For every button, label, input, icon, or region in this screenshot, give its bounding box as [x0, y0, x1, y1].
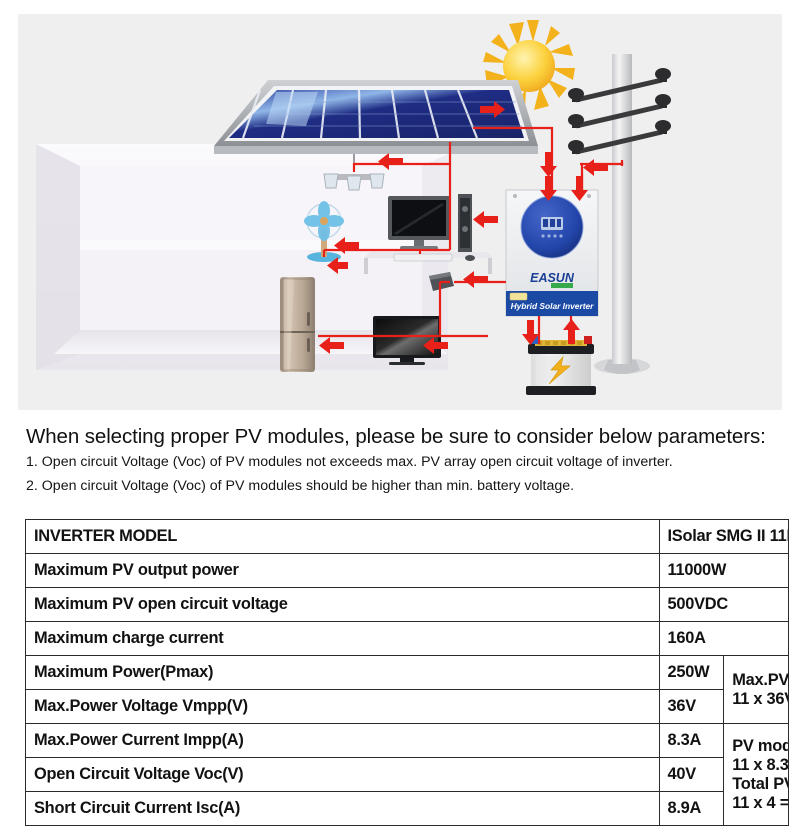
note-total-calc: 11 x 4 = 44	[732, 794, 788, 813]
table-row: Maximum PV open circuit voltage 500VDC	[26, 588, 789, 622]
table-row: Short Circuit Current Isc(A) 8.9A	[26, 792, 789, 826]
cell-value: 36V	[659, 690, 724, 724]
intro-text-block: When selecting proper PV modules, please…	[26, 424, 786, 498]
refrigerator	[280, 277, 315, 372]
cell-label: Open Circuit Voltage Voc(V)	[26, 758, 660, 792]
solar-system-illustration: EASUN Hybrid Solar Inverter	[18, 14, 782, 410]
page-title: When selecting proper PV modules, please…	[26, 424, 786, 450]
note-series-calc: 11 x 36V ≈60～500VDC	[732, 690, 788, 709]
hybrid-solar-inverter: EASUN Hybrid Solar Inverter	[506, 190, 598, 316]
cell-label: Short Circuit Current Isc(A)	[26, 792, 660, 826]
note-total-title: Total PV module numbers	[732, 775, 788, 794]
solar-system-diagram-svg: EASUN Hybrid Solar Inverter	[18, 14, 782, 410]
intro-note-2: 2. Open circuit Voltage (Voc) of PV modu…	[26, 474, 786, 498]
table-row: Open Circuit Voltage Voc(V) 40V	[26, 758, 789, 792]
cell-label: Max.Power Voltage Vmpp(V)	[26, 690, 660, 724]
battery	[526, 336, 596, 395]
speaker-tower	[458, 194, 472, 252]
note-series-title: Max.PV module numbers in senes	[732, 671, 788, 690]
table-row: Max.Power Current Impp(A) 8.3A PV module…	[26, 724, 789, 758]
table-row: Max.Power Voltage Vmpp(V) 36V	[26, 690, 789, 724]
cell-value: 160A	[659, 622, 789, 656]
table-row: Maximum charge current 160A	[26, 622, 789, 656]
inverter-spec-table: INVERTER MODEL ISolar SMG II 11KP WIFI M…	[25, 519, 789, 826]
cell-note-series: Max.PV module numbers in senes 11 x 36V …	[724, 656, 789, 724]
cell-label: Maximum PV output power	[26, 554, 660, 588]
inverter-brand: EASUN	[530, 271, 575, 285]
note-parallel-title: PV module numbers in parallel	[732, 737, 788, 756]
cell-model-name: ISolar SMG II 11KP WIFI	[659, 520, 789, 554]
table-row-model: INVERTER MODEL ISolar SMG II 11KP WIFI	[26, 520, 789, 554]
cell-value: 11000W	[659, 554, 789, 588]
table-row: Maximum PV output power 11000W	[26, 554, 789, 588]
cell-value: 8.3A	[659, 724, 724, 758]
cell-value: 8.9A	[659, 792, 724, 826]
cell-label: Maximum Power(Pmax)	[26, 656, 660, 690]
cell-label: Maximum PV open circuit voltage	[26, 588, 660, 622]
inverter-caption: Hybrid Solar Inverter	[511, 301, 595, 311]
cell-label: Maximum charge current	[26, 622, 660, 656]
intro-note-1: 1. Open circuit Voltage (Voc) of PV modu…	[26, 450, 786, 474]
cell-model-label: INVERTER MODEL	[26, 520, 660, 554]
cell-value: 500VDC	[659, 588, 789, 622]
table-row: Maximum Power(Pmax) 250W Max.PV module n…	[26, 656, 789, 690]
solar-panel-array	[214, 80, 538, 154]
cell-label: Max.Power Current Impp(A)	[26, 724, 660, 758]
note-parallel-calc: 11 x 8.3 < 160A	[732, 756, 788, 775]
cell-value: 250W	[659, 656, 724, 690]
cell-note-parallel: PV module numbers in parallel 11 x 8.3 <…	[724, 724, 789, 826]
cell-value: 40V	[659, 758, 724, 792]
